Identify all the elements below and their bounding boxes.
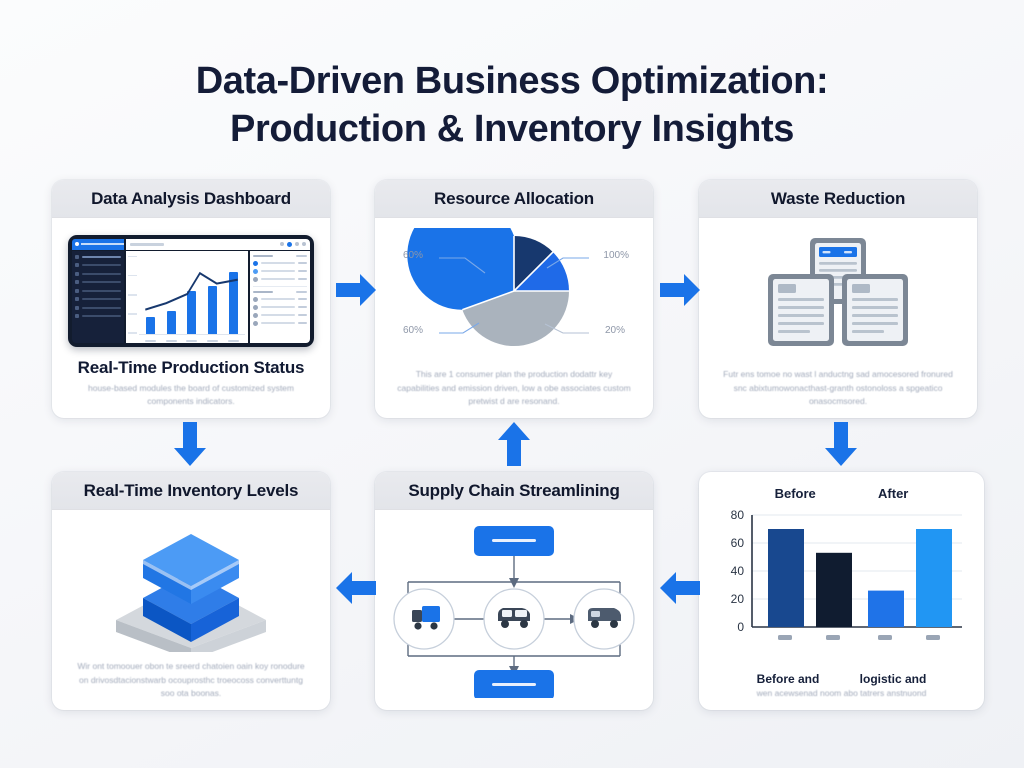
arrow-supply-to-resource xyxy=(492,420,536,468)
bar-before-1 xyxy=(768,529,804,627)
svg-text:60: 60 xyxy=(730,536,744,550)
pie-label-bottom-right: 20% xyxy=(605,325,625,336)
arrow-waste-to-beforeafter xyxy=(819,420,863,468)
before-after-footer-note: wen acewsenad noom abo tatrers anstnuond xyxy=(757,687,927,700)
page-title-line-1: Data-Driven Business Optimization: xyxy=(196,60,829,102)
dashboard-mock-chart-xlabels xyxy=(140,340,244,342)
dashboard-mockup-frame xyxy=(68,235,314,347)
svg-text:0: 0 xyxy=(737,620,744,634)
svg-text:80: 80 xyxy=(730,508,744,522)
card-header-resource: Resource Allocation xyxy=(375,180,653,218)
group-label-before: Before xyxy=(775,486,816,501)
page-title-line-2: Production & Inventory Insights xyxy=(0,106,1024,154)
pie-label-top-left: 60% xyxy=(403,250,423,261)
isometric-cubes-svg xyxy=(96,524,286,652)
card-real-time-inventory-levels[interactable]: Real-Time Inventory Levels xyxy=(52,472,330,710)
svg-text:40: 40 xyxy=(730,564,744,578)
supply-chain-flow-svg xyxy=(388,520,640,698)
dashboard-mock-searchbar xyxy=(126,239,310,250)
pie-chart-wrap: 60% 100% 60% 20% xyxy=(387,226,641,366)
card-body-waste: Futr ens tomoe no wast l anductng sad am… xyxy=(699,218,977,418)
before-after-group-labels: Before After xyxy=(744,486,940,501)
bar-after-1 xyxy=(868,591,904,627)
card-body-resource: 60% 100% 60% 20% This are 1 consumer pla… xyxy=(375,218,653,418)
card-body-supply xyxy=(375,510,653,710)
card-header-dashboard: Data Analysis Dashboard xyxy=(52,180,330,218)
page-title: Data-Driven Business Optimization: Produ… xyxy=(0,58,1024,154)
resource-allocation-pie-chart xyxy=(387,228,641,356)
footer-label-after: logistic and xyxy=(860,672,927,686)
card-header-supply: Supply Chain Streamlining xyxy=(375,472,653,510)
arrow-resource-to-waste xyxy=(658,268,702,312)
arrow-supply-to-inventory xyxy=(334,566,378,610)
documents-icon-svg xyxy=(758,234,918,358)
pie-label-bottom-left: 60% xyxy=(403,325,423,336)
documents-icon xyxy=(711,226,965,366)
isometric-cubes-icon xyxy=(64,518,318,658)
arrow-dashboard-to-inventory xyxy=(168,420,212,468)
bar-before-2 xyxy=(816,553,852,627)
dashboard-mock-chart-trendline xyxy=(139,255,244,333)
card-header-inventory: Real-Time Inventory Levels xyxy=(52,472,330,510)
dashboard-mockup-image xyxy=(64,226,318,356)
arrow-beforeafter-to-supply xyxy=(658,566,702,610)
pie-chart-image: 60% 100% 60% 20% xyxy=(387,226,641,366)
card-body-inventory: Wir ont tomoouer obon te sreerd chatoien… xyxy=(52,510,330,710)
card-blurb-waste: Futr ens tomoe no wast l anductng sad am… xyxy=(719,368,957,408)
card-resource-allocation[interactable]: Resource Allocation xyxy=(375,180,653,418)
dashboard-mock-chart-gridlines xyxy=(128,256,139,334)
dashboard-mock-sidepanel xyxy=(250,251,310,343)
dashboard-mock-topbar xyxy=(72,239,310,250)
dashboard-mock-logo xyxy=(72,239,124,250)
before-after-bar-chart: 80 60 40 20 0 xyxy=(713,503,970,671)
svg-text:20: 20 xyxy=(730,592,744,606)
bar-after-2 xyxy=(916,529,952,627)
before-after-footer-labels: Before and logistic and xyxy=(737,672,947,686)
supply-chain-flow-diagram xyxy=(387,518,641,700)
card-blurb-resource: This are 1 consumer plan the production … xyxy=(396,368,632,408)
card-before-after-comparison[interactable]: Before After 80 60 40 20 0 xyxy=(699,472,984,710)
infographic-page: Data-Driven Business Optimization: Produ… xyxy=(0,0,1024,768)
dashboard-mock-content xyxy=(126,251,310,343)
pie-label-top-right: 100% xyxy=(603,250,629,261)
card-blurb-dashboard: house-based modules the board of customi… xyxy=(76,382,306,408)
card-supply-chain-streamlining[interactable]: Supply Chain Streamlining xyxy=(375,472,653,710)
card-body-dashboard: Real-Time Production Status house-based … xyxy=(52,218,330,418)
arrow-dashboard-to-resource xyxy=(334,268,378,312)
card-header-waste: Waste Reduction xyxy=(699,180,977,218)
card-data-analysis-dashboard[interactable]: Data Analysis Dashboard xyxy=(52,180,330,418)
card-body-beforeafter: Before After 80 60 40 20 0 xyxy=(699,472,984,710)
dashboard-mock-chart xyxy=(126,251,248,343)
group-label-after: After xyxy=(878,486,908,501)
card-waste-reduction[interactable]: Waste Reduction xyxy=(699,180,977,418)
card-blurb-inventory: Wir ont tomoouer obon te sreerd chatoien… xyxy=(72,660,310,700)
before-after-bar-chart-svg: 80 60 40 20 0 xyxy=(716,503,968,651)
footer-label-before: Before and xyxy=(757,672,820,686)
dashboard-mock-sidebar xyxy=(72,251,124,343)
card-subtitle-dashboard: Real-Time Production Status xyxy=(78,358,305,378)
dashboard-mock-main xyxy=(72,251,310,343)
